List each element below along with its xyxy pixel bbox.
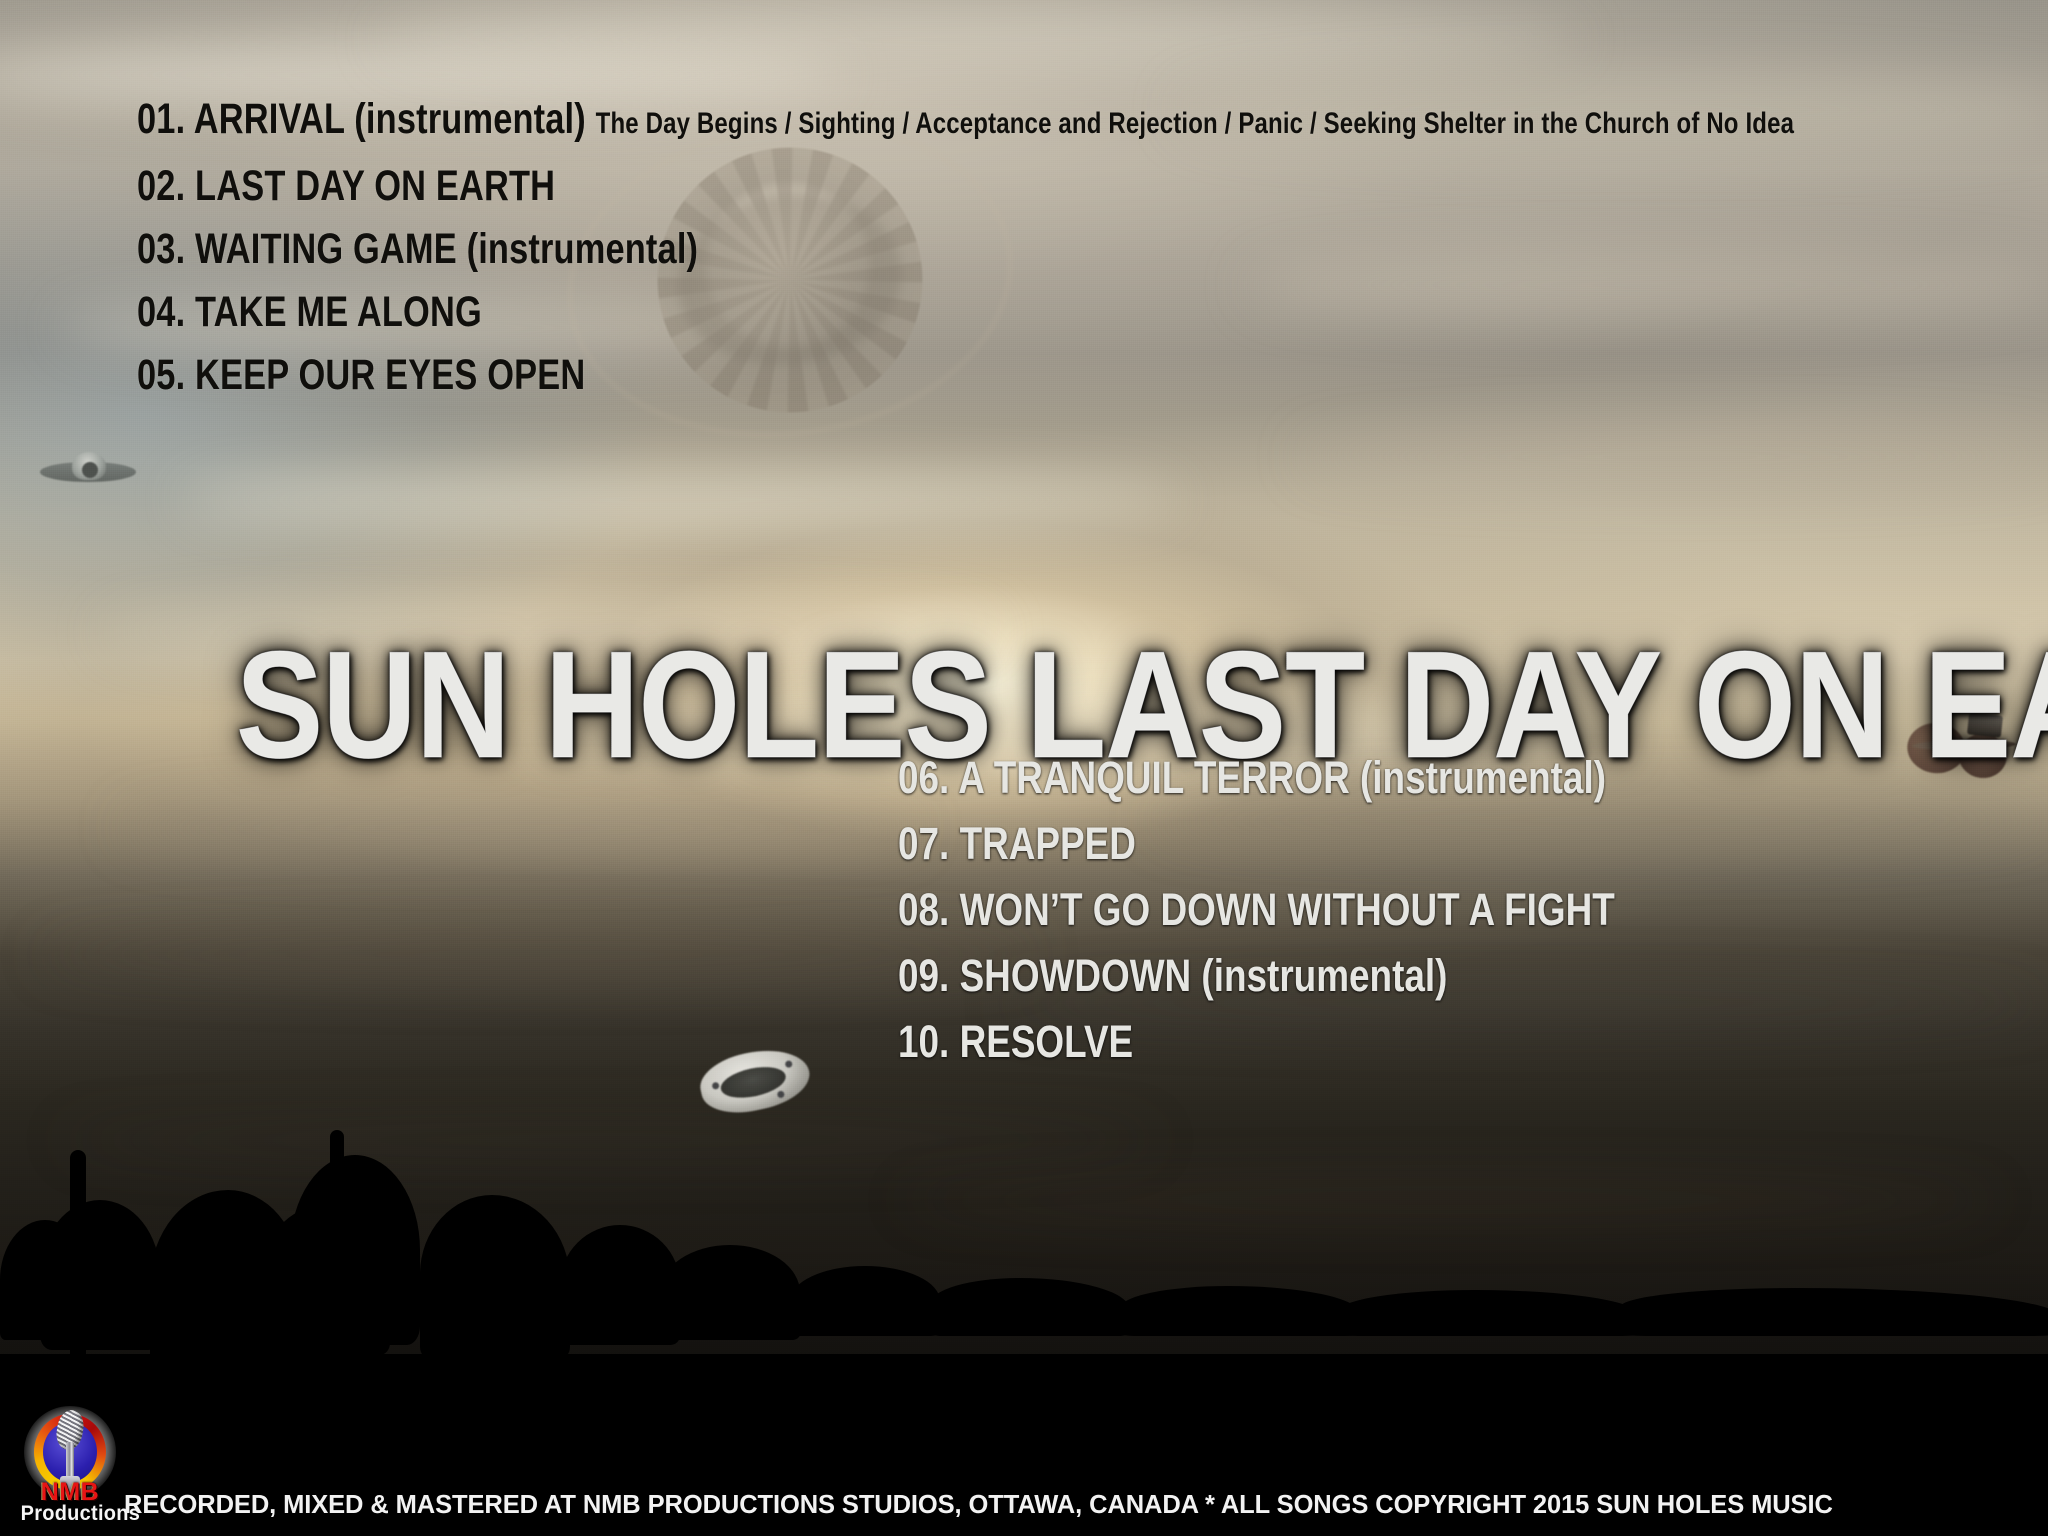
track-title: RESOLVE xyxy=(960,1016,1134,1067)
credits-text: RECORDED, MIXED & MASTERED AT NMB PRODUC… xyxy=(124,1491,1833,1520)
album-back-cover: 01. ARRIVAL (instrumental) The Day Begin… xyxy=(0,0,2048,1536)
track-number: 09. xyxy=(898,950,949,1001)
track-title: WAITING GAME (instrumental) xyxy=(195,225,698,273)
nmb-productions-logo: NMB Productions xyxy=(16,1406,122,1528)
track-number: 07. xyxy=(898,818,949,869)
track-number: 10. xyxy=(898,1016,949,1067)
track-title: WON’T GO DOWN WITHOUT A FIGHT xyxy=(960,884,1615,935)
footer-bar xyxy=(0,1440,2048,1536)
track-row: 06. A TRANQUIL TERROR (instrumental) xyxy=(898,745,1767,811)
track-number: 05. xyxy=(137,351,185,399)
track-title: SHOWDOWN (instrumental) xyxy=(960,950,1448,1001)
track-row: 02. LAST DAY ON EARTH xyxy=(137,155,1209,218)
track-title: KEEP OUR EYES OPEN xyxy=(195,351,585,399)
track-row: 07. TRAPPED xyxy=(898,811,1767,877)
track-row: 05. KEEP OUR EYES OPEN xyxy=(137,344,1209,407)
track-title: LAST DAY ON EARTH xyxy=(195,162,555,210)
track-number: 04. xyxy=(137,288,185,336)
track-row: 03. WAITING GAME (instrumental) xyxy=(137,218,1209,281)
track-subtitle: The Day Begins / Sighting / Acceptance a… xyxy=(596,107,1795,140)
track-number: 06. xyxy=(898,752,949,803)
track-number: 08. xyxy=(898,884,949,935)
tracklist-right: 06. A TRANQUIL TERROR (instrumental) 07.… xyxy=(898,745,1958,1075)
logo-subtitle: Productions xyxy=(21,1502,120,1526)
track-row: 04. TAKE ME ALONG xyxy=(137,281,1209,344)
track-number: 02. xyxy=(137,162,185,210)
track-row: 10. RESOLVE xyxy=(898,1009,1767,1075)
small-ufo-left-icon xyxy=(40,448,136,500)
track-row: 08. WON’T GO DOWN WITHOUT A FIGHT xyxy=(898,877,1767,943)
tracklist-left: 01. ARRIVAL (instrumental) The Day Begin… xyxy=(137,88,1477,407)
track-row: 01. ARRIVAL (instrumental) The Day Begin… xyxy=(137,88,1209,155)
track-number: 01. xyxy=(137,95,185,143)
track-title: TRAPPED xyxy=(960,818,1136,869)
track-title: ARRIVAL (instrumental) xyxy=(194,95,586,143)
track-row: 09. SHOWDOWN (instrumental) xyxy=(898,943,1767,1009)
track-number: 03. xyxy=(137,225,185,273)
track-title: TAKE ME ALONG xyxy=(195,288,482,336)
track-title: A TRANQUIL TERROR (instrumental) xyxy=(958,752,1606,803)
